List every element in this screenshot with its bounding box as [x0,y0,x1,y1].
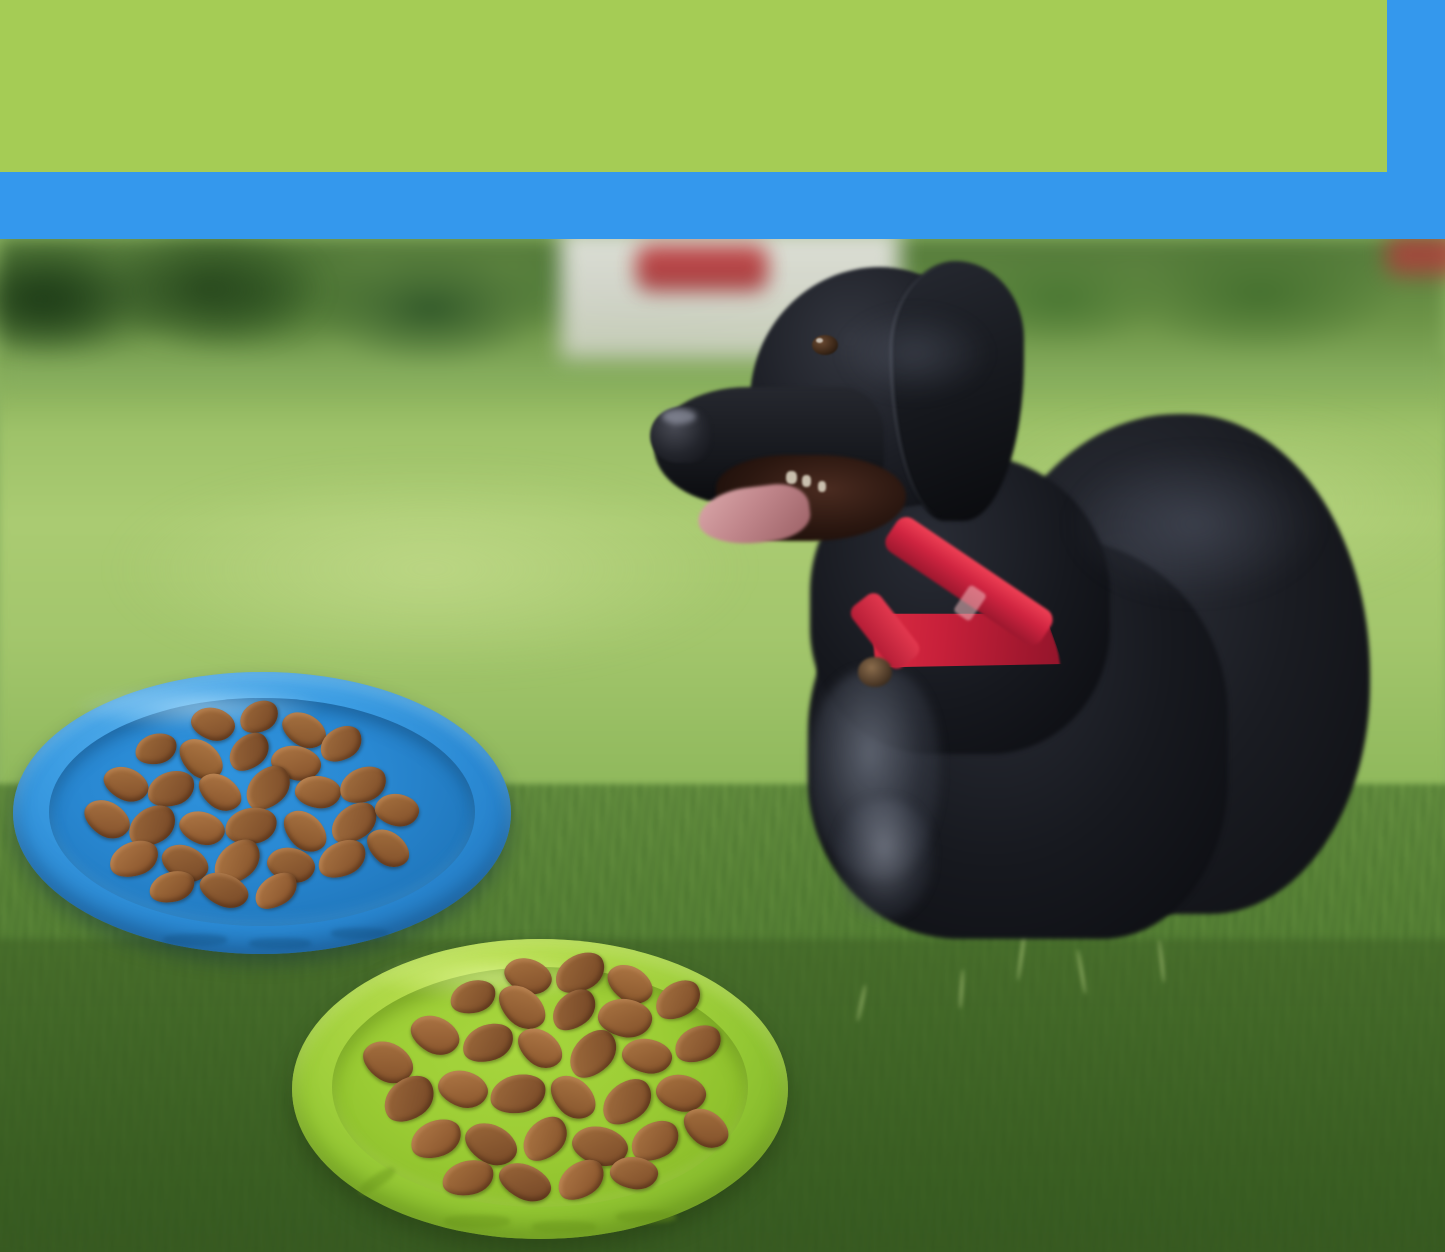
product-feature-image: Use As a Simple Food Bowl for Travel or … [0,0,1445,1252]
headline-banner-green [0,0,1387,172]
dog-tooth [786,471,797,484]
dog-tooth [818,481,826,492]
dog-nose-highlight [662,409,696,424]
subhead-banner-blue [0,172,1445,239]
banner-green-right-filler [1387,0,1445,172]
dog-tooth [802,475,811,487]
red-car-blur-right [1386,239,1445,275]
blue-bowl-fold-notch [163,934,227,946]
product-photo [0,239,1445,1252]
shrub-left [0,239,380,389]
dog-labrador [640,239,1360,939]
dog-back-sheen [1070,449,1320,599]
dog-collar-tag [858,657,892,687]
blue-bowl-fold-notch [331,928,389,939]
dog-paw-highlight [836,799,932,919]
green-bowl-fold-notch [532,1221,596,1233]
green-collapsible-bowl[interactable] [292,939,788,1239]
dog-eye-shine [816,338,823,343]
blue-collapsible-bowl[interactable] [13,672,511,954]
green-bowl-fold-notch [616,1211,676,1223]
green-bowl-fold-notch [444,1215,510,1228]
dog-head-sheen [840,309,990,399]
